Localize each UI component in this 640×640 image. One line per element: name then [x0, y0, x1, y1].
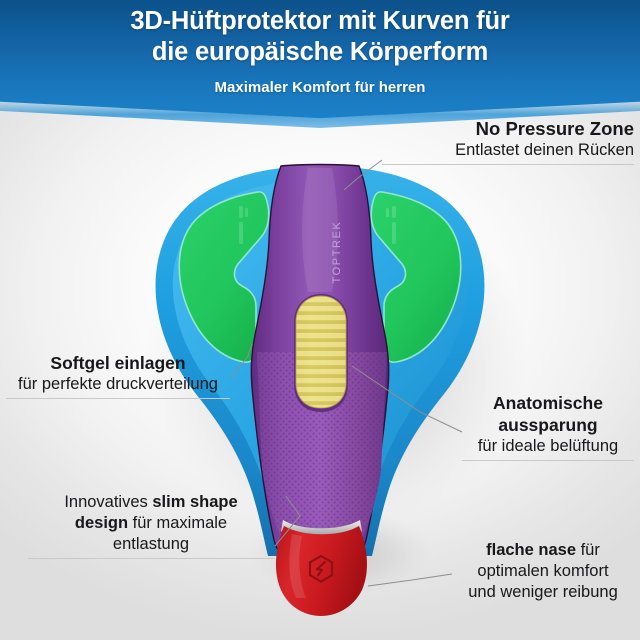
callout-slim-shape-bold1: slim shape — [152, 493, 237, 511]
callout-slim-shape-pre: Innovatives — [64, 493, 152, 511]
callout-anatomisch-title-line1: Anatomische — [462, 392, 634, 414]
callout-flache-nase-line2: optimalen komfort — [452, 561, 634, 582]
callout-anatomisch-rule — [462, 460, 634, 461]
callout-anatomisch-subtitle: für ideale belüftung — [462, 436, 634, 457]
callout-slim-shape-rule — [28, 558, 274, 559]
callout-slim-shape-post: für maximale — [128, 514, 227, 532]
callout-flache-nase-line3: und weniger reibung — [452, 582, 634, 603]
callout-anatomisch-title-line2: aussparung — [462, 414, 634, 436]
brand-text: TOPTREK — [331, 221, 343, 284]
callout-softgel-rule — [6, 398, 230, 399]
infographic-page: TOPTREK 3D-Hüftprotektor mit Ku — [0, 0, 640, 640]
anatomic-channel — [294, 294, 348, 412]
callout-no-pressure-title: No Pressure Zone — [382, 118, 634, 140]
callout-slim-shape-line2: design für maximale — [28, 513, 274, 534]
callout-softgel-title: Softgel einlagen — [6, 352, 230, 374]
callout-no-pressure-rule — [382, 164, 634, 165]
callout-no-pressure-subtitle: Entlastet deinen Rücken — [382, 140, 634, 161]
callout-flache-nase-line1: flache nase für — [452, 540, 634, 561]
callout-flache-nase-post: für — [576, 541, 600, 559]
callout-slim-shape-bold2: design — [75, 514, 128, 532]
callout-slim-shape-line1: Innovatives slim shape — [28, 492, 274, 513]
header-banner — [0, 0, 640, 122]
callout-anatomisch: Anatomische aussparung für ideale belüft… — [462, 392, 634, 461]
callout-flache-nase: flache nase für optimalen komfort und we… — [452, 540, 634, 603]
callout-flache-nase-bold: flache nase — [486, 541, 576, 559]
callout-slim-shape: Innovatives slim shape design für maxima… — [28, 492, 274, 559]
callout-no-pressure: No Pressure Zone Entlastet deinen Rücken — [382, 118, 634, 165]
callout-softgel: Softgel einlagen für perfekte druckverte… — [6, 352, 230, 399]
callout-slim-shape-line3: entlastung — [28, 534, 274, 555]
callout-softgel-subtitle: für perfekte druckverteilung — [6, 374, 230, 395]
